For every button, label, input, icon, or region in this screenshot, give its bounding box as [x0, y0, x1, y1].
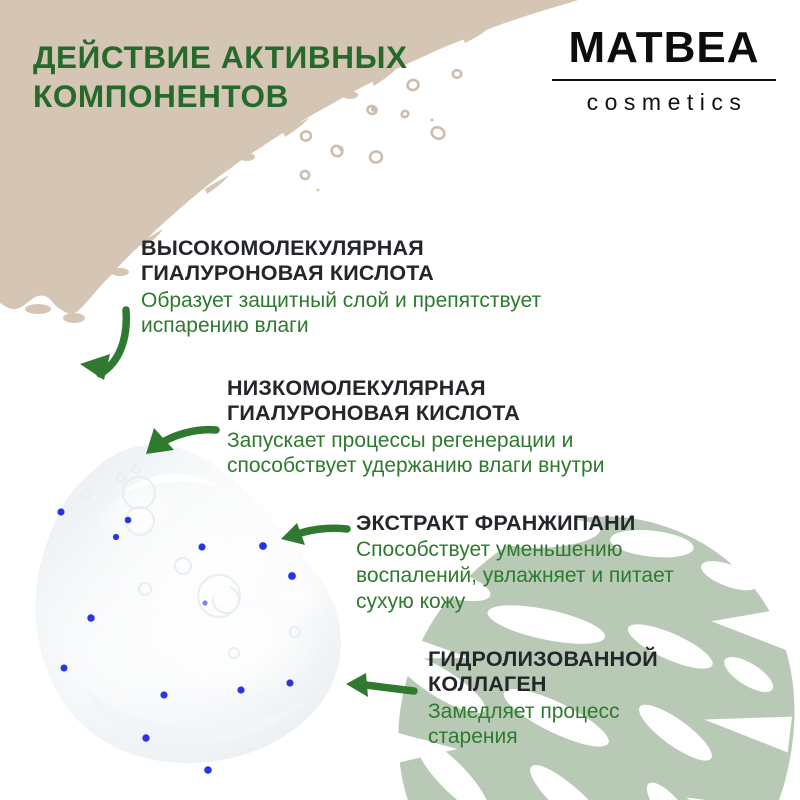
- ingredient-desc-line-2: испарению влаги: [141, 313, 541, 339]
- ingredient-block-low-molecular-ha: НИЗКОМОЛЕКУЛЯРНАЯ ГИАЛУРОНОВАЯ КИСЛОТА З…: [227, 376, 604, 479]
- curved-arrow-down-left-icon: [62, 304, 142, 390]
- arrow-left-icon: [340, 673, 418, 709]
- page-title: ДЕЙСТВИЕ АКТИВНЫХ КОМПОНЕНТОВ: [33, 38, 463, 117]
- ingredient-title-line-2: КОЛЛАГЕН: [428, 672, 658, 697]
- brand-logo: MATBEA cosmetics: [548, 26, 780, 116]
- ingredient-description: Способствует уменьшению воспалений, увла…: [356, 537, 674, 614]
- ingredient-title-line-1: ГИДРОЛИЗОВАННОЙ: [428, 647, 658, 672]
- ingredient-title: НИЗКОМОЛЕКУЛЯРНАЯ ГИАЛУРОНОВАЯ КИСЛОТА: [227, 376, 604, 427]
- ingredient-title-line-1: НИЗКОМОЛЕКУЛЯРНАЯ: [227, 376, 604, 401]
- logo-divider: [552, 79, 776, 81]
- ingredient-desc-line-2: воспалений, увлажняет и питает: [356, 563, 674, 589]
- ingredient-title-line-2: ГИАЛУРОНОВАЯ КИСЛОТА: [141, 261, 541, 286]
- ingredient-desc-line-2: старения: [428, 724, 658, 750]
- ingredient-block-hydrolyzed-collagen: ГИДРОЛИЗОВАННОЙ КОЛЛАГЕН Замедляет проце…: [428, 647, 658, 750]
- page-title-line-2: КОМПОНЕНТОВ: [33, 77, 463, 116]
- brand-subtitle: cosmetics: [548, 89, 780, 116]
- ingredient-desc-line-1: Запускает процессы регенерации и: [227, 428, 604, 454]
- ingredient-desc-line-1: Способствует уменьшению: [356, 537, 674, 563]
- curved-arrow-left-icon: [136, 420, 222, 472]
- ingredient-block-frangipani-extract: ЭКСТРАКТ ФРАНЖИПАНИ Способствует уменьше…: [356, 511, 674, 614]
- ingredient-title: ВЫСОКОМОЛЕКУЛЯРНАЯ ГИАЛУРОНОВАЯ КИСЛОТА: [141, 236, 541, 287]
- ingredient-title: ЭКСТРАКТ ФРАНЖИПАНИ: [356, 511, 674, 536]
- ingredient-title: ГИДРОЛИЗОВАННОЙ КОЛЛАГЕН: [428, 647, 658, 698]
- ingredient-title-line-1: ЭКСТРАКТ ФРАНЖИПАНИ: [356, 511, 674, 536]
- page-title-line-1: ДЕЙСТВИЕ АКТИВНЫХ: [33, 38, 463, 77]
- brand-wordmark: MATBEA: [548, 26, 780, 70]
- ingredient-description: Запускает процессы регенерации и способс…: [227, 428, 604, 479]
- ingredient-block-high-molecular-ha: ВЫСОКОМОЛЕКУЛЯРНАЯ ГИАЛУРОНОВАЯ КИСЛОТА …: [141, 236, 541, 339]
- ingredient-description: Образует защитный слой и препятствует ис…: [141, 288, 541, 339]
- ingredient-description: Замедляет процесс старения: [428, 699, 658, 750]
- infographic-canvas: ДЕЙСТВИЕ АКТИВНЫХ КОМПОНЕНТОВ MATBEA cos…: [0, 0, 800, 800]
- ingredient-title-line-1: ВЫСОКОМОЛЕКУЛЯРНАЯ: [141, 236, 541, 261]
- ingredient-title-line-2: ГИАЛУРОНОВАЯ КИСЛОТА: [227, 401, 604, 426]
- ingredient-desc-line-2: способствует удержанию влаги внутри: [227, 453, 604, 479]
- curved-arrow-left-icon: [275, 519, 351, 559]
- ingredient-desc-line-3: сухую кожу: [356, 589, 674, 615]
- ingredient-desc-line-1: Замедляет процесс: [428, 699, 658, 725]
- ingredient-desc-line-1: Образует защитный слой и препятствует: [141, 288, 541, 314]
